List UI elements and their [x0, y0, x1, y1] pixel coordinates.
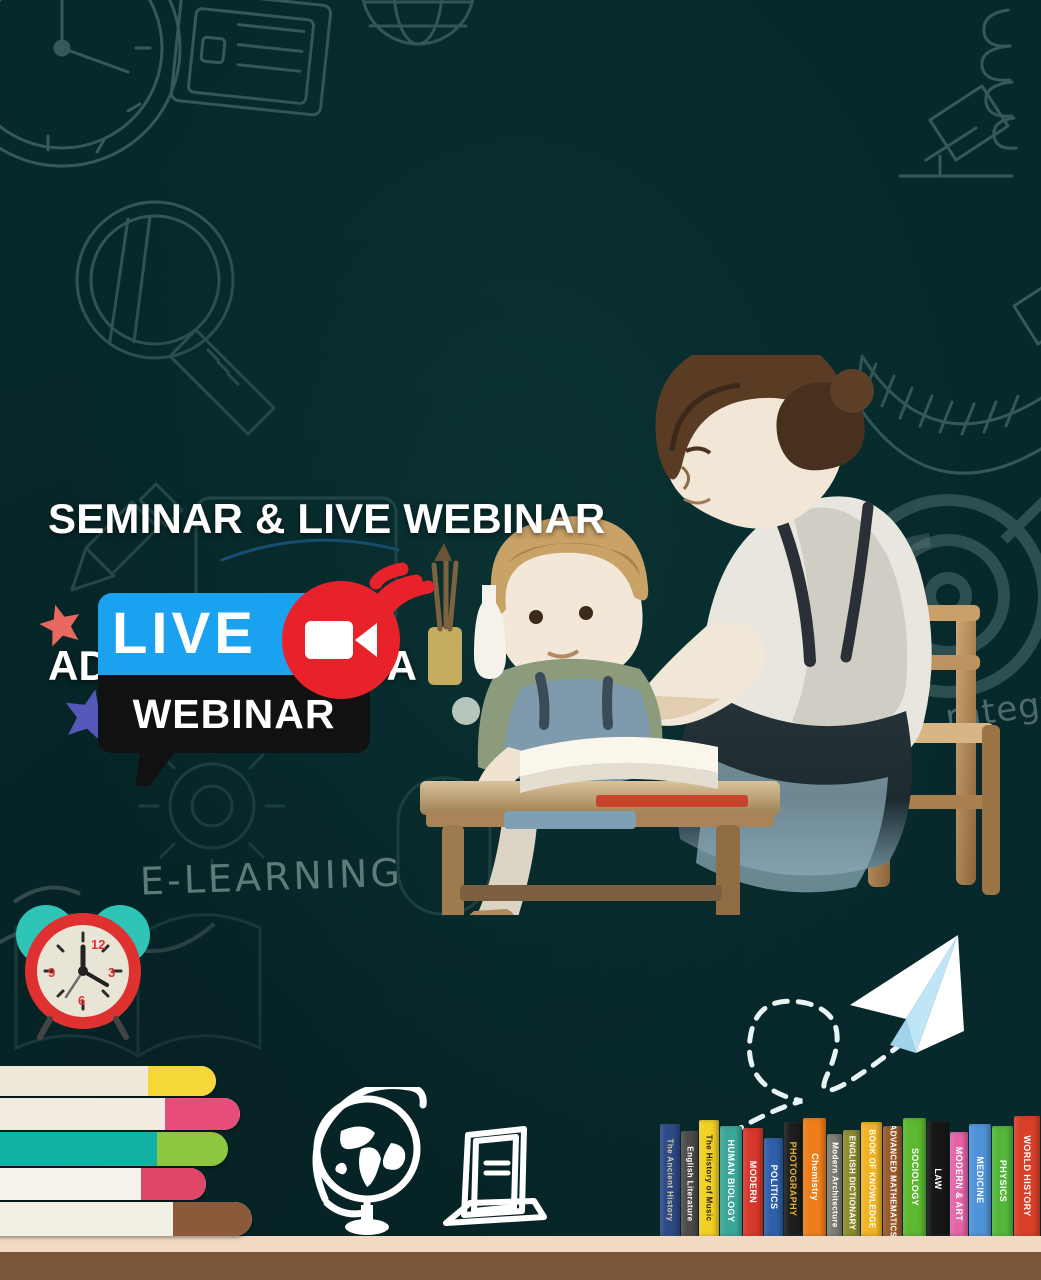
book-edge — [157, 1132, 228, 1166]
book-spine: LAW — [927, 1121, 949, 1236]
headline-line-1: SEMINAR & LIVE WEBINAR — [48, 495, 605, 544]
book-spine-title: ADVANCED MATHEMATICS — [888, 1126, 897, 1236]
book-spine-title: MODERN & ART — [954, 1147, 964, 1221]
book-spine-title: ENGLISH DICTIONARY — [847, 1136, 856, 1230]
live-webinar-badge[interactable]: LIVE WEBINAR — [60, 545, 460, 780]
video-camera-icon — [282, 581, 400, 699]
hand-doodle-icon — [982, 10, 1016, 148]
poster-canvas: SEMINAR & LIVE WEBINAR ADHD INDONESIA LI… — [0, 0, 1041, 1280]
book-spine: POLITICS — [764, 1138, 783, 1236]
book-edge — [165, 1098, 240, 1130]
book-edge — [173, 1202, 252, 1236]
alarm-clock: 12 3 6 9 — [4, 893, 164, 1048]
book-spine-title: MEDICINE — [975, 1156, 985, 1203]
live-label: LIVE — [112, 605, 257, 663]
webinar-label: WEBINAR — [133, 694, 336, 735]
book-spine: PHYSICS — [992, 1126, 1013, 1236]
book-spine-title: Chemistry — [810, 1153, 820, 1201]
camera-lens — [355, 623, 377, 657]
stacked-book — [0, 1202, 252, 1236]
book-spine: The History of Music — [699, 1120, 719, 1236]
book-spine: ADVANCED MATHEMATICS — [883, 1126, 902, 1236]
book-spine-title: SOCIOLOGY — [910, 1148, 920, 1206]
book-spine: MODERN & ART — [950, 1132, 968, 1236]
book-edge — [141, 1168, 206, 1200]
book-spine-title: WORLD HISTORY — [1022, 1135, 1032, 1216]
book-spine-title: LAW — [933, 1168, 943, 1189]
globe-doodle-icon-top — [362, 0, 474, 44]
e-learning-doodle-text: E-LEARNING — [139, 850, 403, 903]
shelf-board — [0, 1252, 1041, 1280]
book-spine-title: HUMAN BIOLOGY — [726, 1140, 736, 1223]
book-spine-title: PHYSICS — [998, 1160, 1008, 1202]
book-spine: WORLD HISTORY — [1014, 1116, 1040, 1236]
microscope-doodle-icon — [900, 86, 1012, 176]
book-spine-title: MODERN — [748, 1161, 758, 1203]
book-spine: HUMAN BIOLOGY — [720, 1126, 742, 1236]
book-stack — [0, 1064, 252, 1236]
book-spine-title: English Literature — [685, 1146, 694, 1221]
book-spine-title: Modern Architecture — [830, 1142, 839, 1228]
svg-text:12: 12 — [91, 937, 105, 952]
bookshelf-row: The Ancient HistoryEnglish LiteratureThe… — [660, 1118, 1041, 1236]
stacked-book — [0, 1098, 240, 1130]
stacked-book — [0, 1132, 228, 1166]
book-spine: MODERN — [743, 1128, 763, 1236]
book-spine-title: POLITICS — [769, 1165, 779, 1210]
clipboard-doodle-icon — [171, 0, 332, 116]
book-spine-title: BOOK OF KNOWLEDGE — [867, 1129, 876, 1228]
book-spine: Modern Architecture — [827, 1134, 842, 1236]
book-spine: ENGLISH DICTIONARY — [843, 1130, 860, 1236]
book-spine: SOCIOLOGY — [903, 1118, 926, 1236]
svg-text:9: 9 — [48, 965, 55, 980]
book-spine: The Ancient History — [660, 1124, 680, 1236]
book-spine: English Literature — [681, 1131, 698, 1236]
svg-text:6: 6 — [78, 993, 85, 1008]
stacked-book — [0, 1168, 206, 1200]
book-spine: MEDICINE — [969, 1124, 991, 1236]
book-spine: Chemistry — [803, 1118, 826, 1236]
globe-icon — [305, 1087, 435, 1242]
book-edge — [148, 1066, 216, 1096]
book-spine: BOOK OF KNOWLEDGE — [861, 1122, 882, 1236]
svg-text:3: 3 — [108, 965, 115, 980]
book-spine-title: PHOTOGRAPHY — [788, 1142, 798, 1217]
badge-bubble-tail — [135, 750, 176, 786]
book-spine-title: The Ancient History — [666, 1139, 675, 1222]
paper-plane-icon — [850, 935, 964, 1053]
book-spine-title: The History of Music — [705, 1135, 714, 1222]
camera-body — [305, 621, 353, 659]
open-book-tablet-icon — [440, 1119, 550, 1244]
wall-clock-doodle-icon — [0, 0, 180, 166]
stacked-book — [0, 1066, 216, 1096]
book-spine: PHOTOGRAPHY — [784, 1122, 802, 1236]
